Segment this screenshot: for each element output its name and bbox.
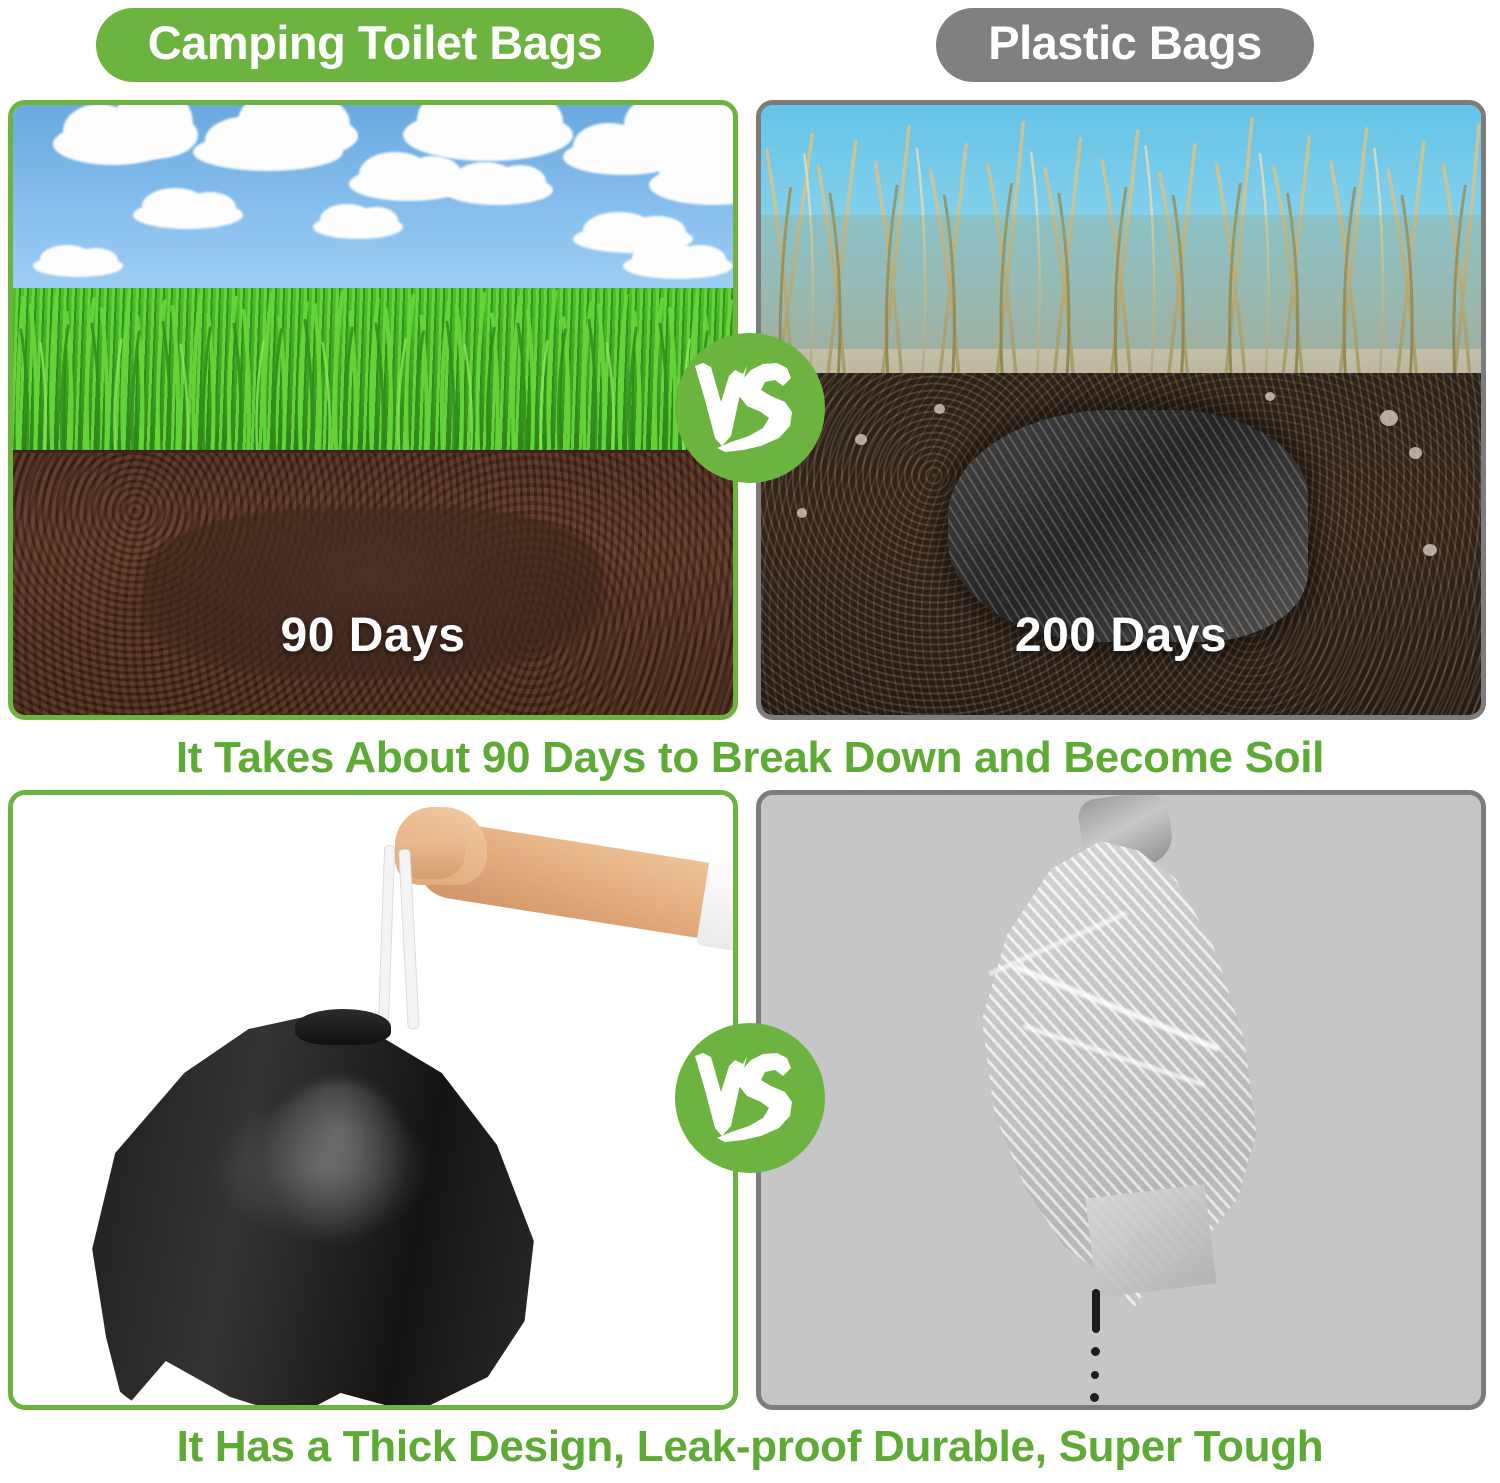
drip <box>1091 1347 1100 1356</box>
cloud-icon <box>443 175 553 205</box>
days-label-200: 200 Days <box>761 608 1481 663</box>
dry-grass-mass <box>761 215 1481 386</box>
cloud-icon <box>108 111 198 159</box>
drip <box>1091 1371 1099 1379</box>
vs-badge-top <box>675 333 825 483</box>
cloud-icon <box>33 255 123 277</box>
drip <box>1090 1393 1099 1402</box>
vs-badge-bottom <box>675 1023 825 1173</box>
vs-text-icon <box>691 360 809 456</box>
grass-blades-icon <box>13 288 733 459</box>
panel-black-drawstring-bag <box>8 790 738 1410</box>
caption-durability: It Has a Thick Design, Leak-proof Durabl… <box>0 1422 1500 1472</box>
vs-text-icon <box>691 1050 809 1146</box>
bag-highlight <box>263 1081 413 1251</box>
photo-leaking-bag <box>761 795 1481 1405</box>
leak-stream <box>1092 1289 1100 1333</box>
bag-contents-box <box>1085 1184 1216 1298</box>
days-label-90: 90 Days <box>13 608 733 663</box>
caption-breakdown: It Takes About 90 Days to Break Down and… <box>0 733 1500 783</box>
panel-leaking-plastic-bag <box>756 790 1486 1410</box>
header-col-right: Plastic Bags <box>750 0 1500 90</box>
cloud-icon <box>623 253 733 279</box>
photo-plastic-soil: 200 Days <box>761 105 1481 715</box>
pebble <box>1409 447 1422 459</box>
header-col-left: Camping Toilet Bags <box>0 0 750 90</box>
header-row: Camping Toilet Bags Plastic Bags <box>0 0 1500 90</box>
green-grass <box>13 288 733 459</box>
cloud-icon <box>133 201 243 229</box>
pebble <box>934 404 945 414</box>
photo-black-bag <box>13 795 733 1405</box>
panel-plastic-bag-in-soil: 200 Days <box>756 100 1486 720</box>
cloud-icon <box>403 109 573 161</box>
pebble <box>1265 392 1275 401</box>
cloud-icon <box>313 215 403 239</box>
panel-biodegradable-bag-in-soil: 90 Days <box>8 100 738 720</box>
header-pill-camping-toilet-bags: Camping Toilet Bags <box>96 8 654 81</box>
header-pill-plastic-bags: Plastic Bags <box>936 8 1314 81</box>
cloud-icon <box>228 113 358 159</box>
photo-biodegradable-soil: 90 Days <box>13 105 733 715</box>
bag-cinch <box>295 1009 391 1045</box>
pebble <box>855 434 867 445</box>
pebble <box>797 508 807 518</box>
